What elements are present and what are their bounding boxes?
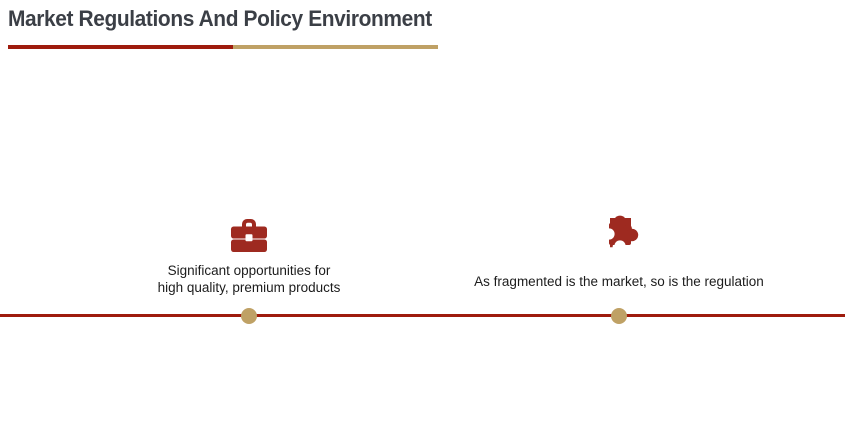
puzzle-piece-icon (595, 212, 643, 256)
title-underline-rule (8, 45, 438, 49)
timeline-node-1-caption: Significant opportunities for high quali… (134, 262, 364, 296)
timeline-node-2-caption: As fragmented is the market, so is the r… (439, 273, 799, 290)
timeline-node-1-dot[interactable] (241, 308, 257, 324)
briefcase-icon (225, 214, 273, 258)
timeline-node-2-dot[interactable] (611, 308, 627, 324)
page-title: Market Regulations And Policy Environmen… (8, 6, 432, 32)
title-rule-gold-segment (233, 45, 438, 49)
title-rule-dark-segment (8, 45, 233, 49)
timeline-axis (0, 314, 845, 317)
slide-canvas: Market Regulations And Policy Environmen… (0, 0, 852, 440)
